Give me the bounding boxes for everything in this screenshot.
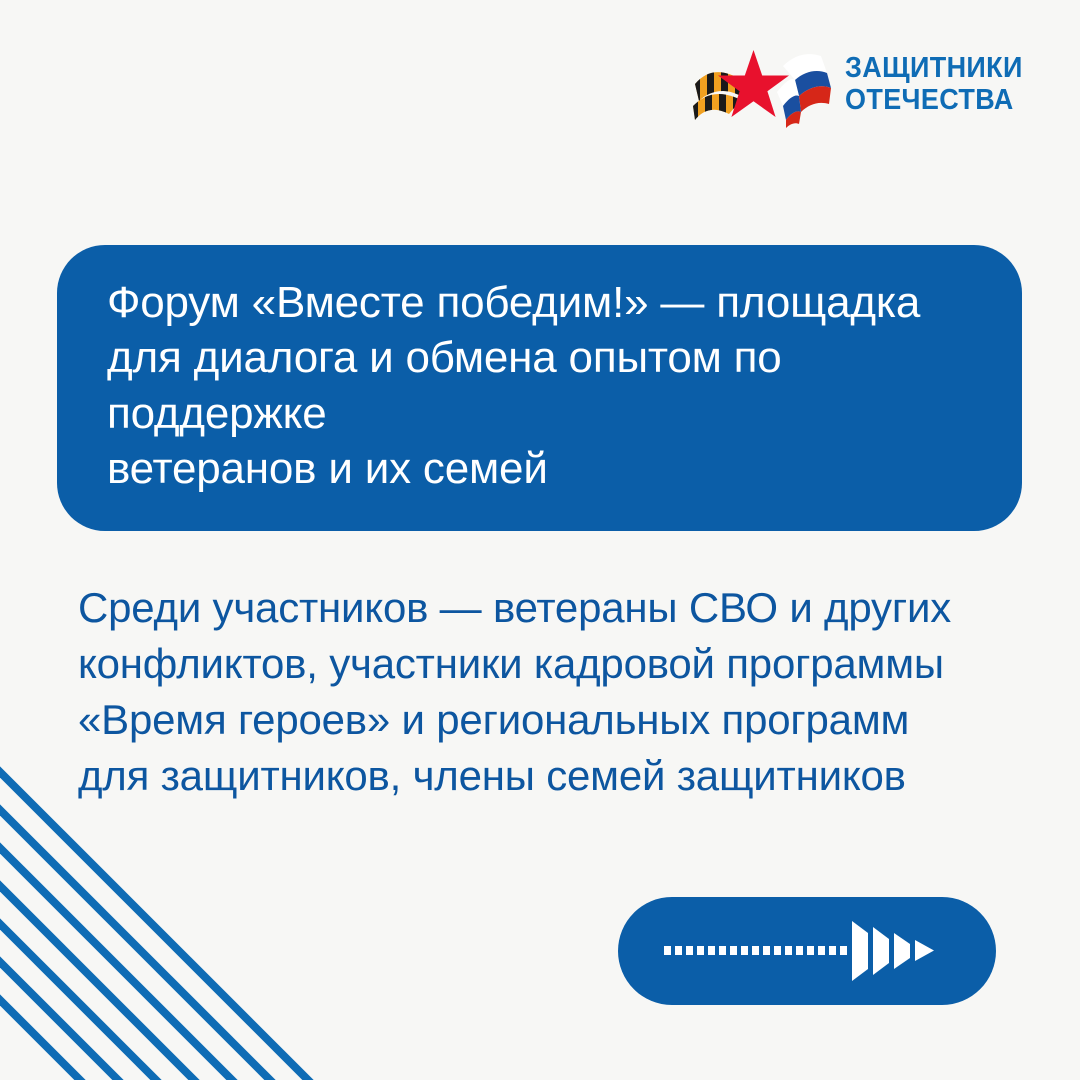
next-slide-button[interactable] — [618, 897, 996, 1005]
headline-text: Форум «Вместе победим!» — площадка для д… — [107, 275, 972, 497]
zashchitniki-otechestva-emblem-icon — [691, 38, 831, 130]
brand-logo: ЗАЩИТНИКИ ОТЕЧЕСТВА — [691, 38, 1036, 130]
body-block: Среди участников — ветераны СВО и других… — [78, 580, 1008, 803]
wordmark-line-1: ЗАЩИТНИКИ — [845, 54, 1023, 83]
headline-card: Форум «Вместе победим!» — площадка для д… — [57, 245, 1022, 531]
body-text: Среди участников — ветераны СВО и других… — [78, 580, 1008, 803]
wordmark-line-2: ОТЕЧЕСТВА — [845, 86, 1023, 115]
dashed-arrow-right-icon — [662, 919, 952, 983]
brand-wordmark: ЗАЩИТНИКИ ОТЕЧЕСТВА — [845, 54, 1036, 115]
slide-canvas: ЗАЩИТНИКИ ОТЕЧЕСТВА Форум «Вместе победи… — [0, 0, 1080, 1080]
